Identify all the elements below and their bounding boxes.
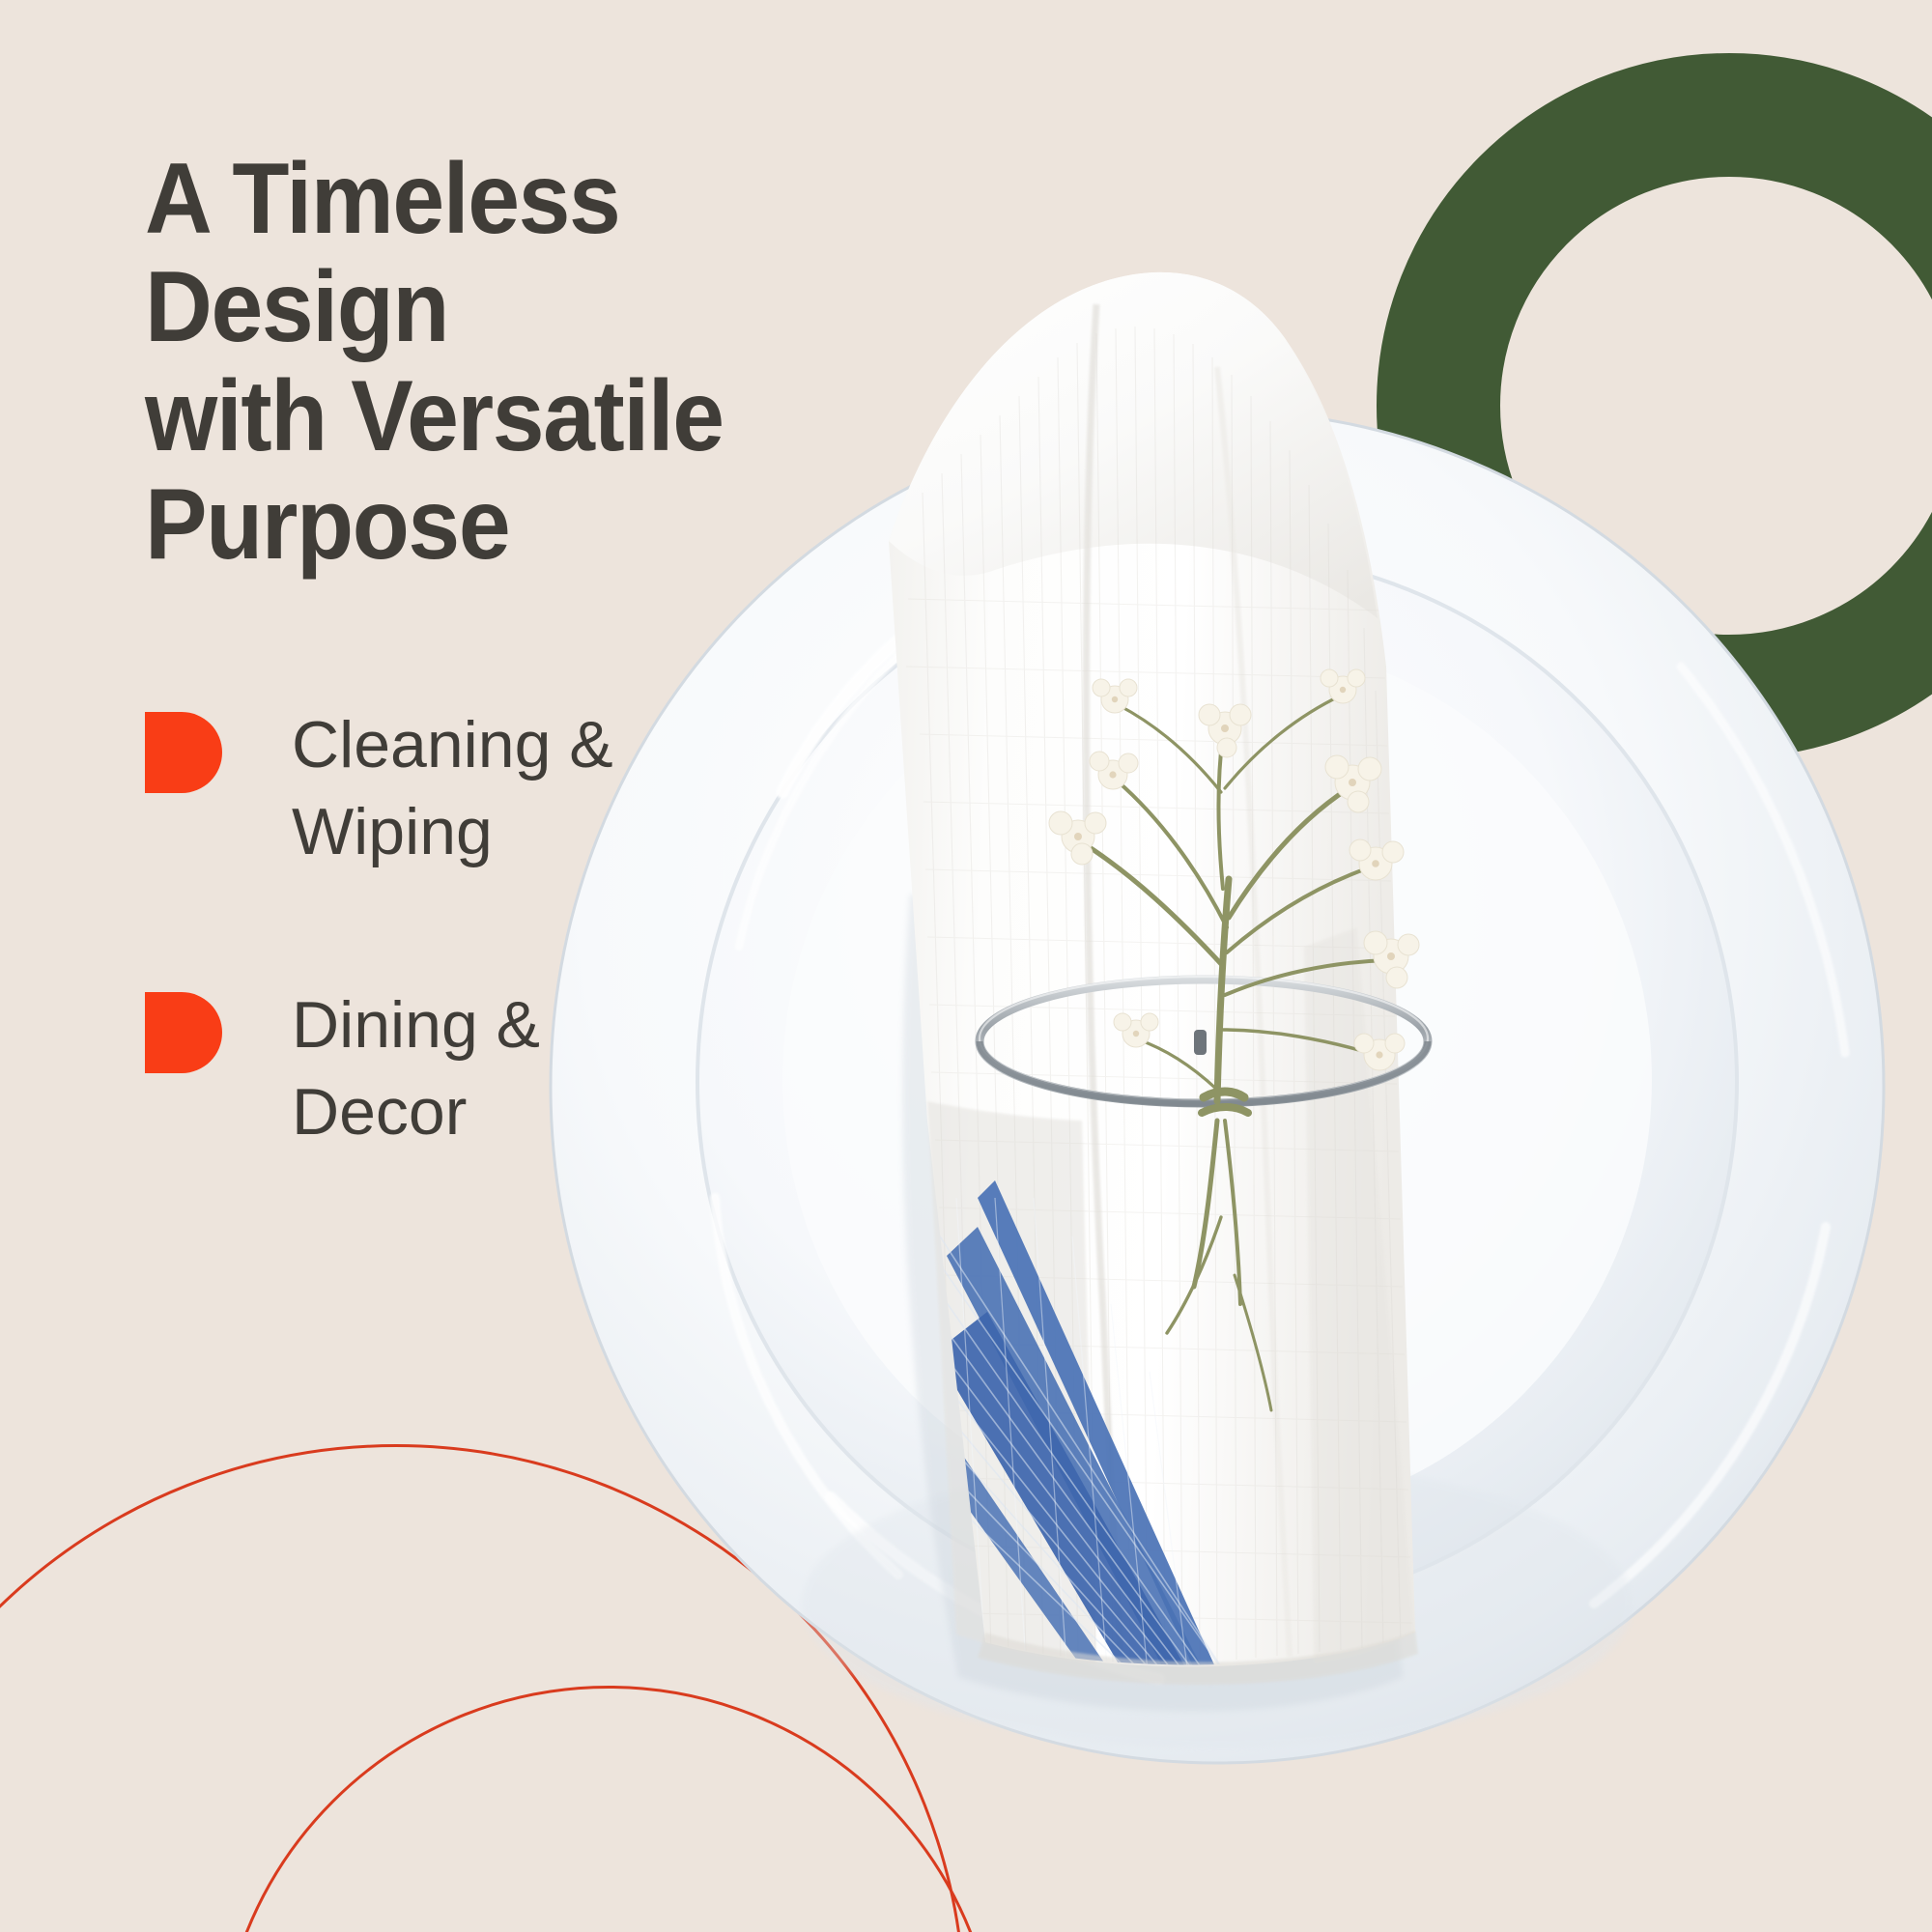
- page-title: A Timeless Design with Versatile Purpose: [145, 145, 864, 579]
- benefit-list: Cleaning & Wiping Dining & Decor: [145, 702, 918, 1155]
- list-item-label: Cleaning & Wiping: [292, 702, 613, 876]
- list-item-label: Dining & Decor: [292, 982, 540, 1156]
- orange-tab-marker-icon: [145, 712, 222, 793]
- orange-tab-marker-icon: [145, 992, 222, 1073]
- text-column: A Timeless Design with Versatile Purpose…: [145, 145, 918, 1262]
- marketing-banner: A Timeless Design with Versatile Purpose…: [0, 0, 1932, 1932]
- list-item: Cleaning & Wiping: [145, 702, 918, 876]
- list-item: Dining & Decor: [145, 982, 918, 1156]
